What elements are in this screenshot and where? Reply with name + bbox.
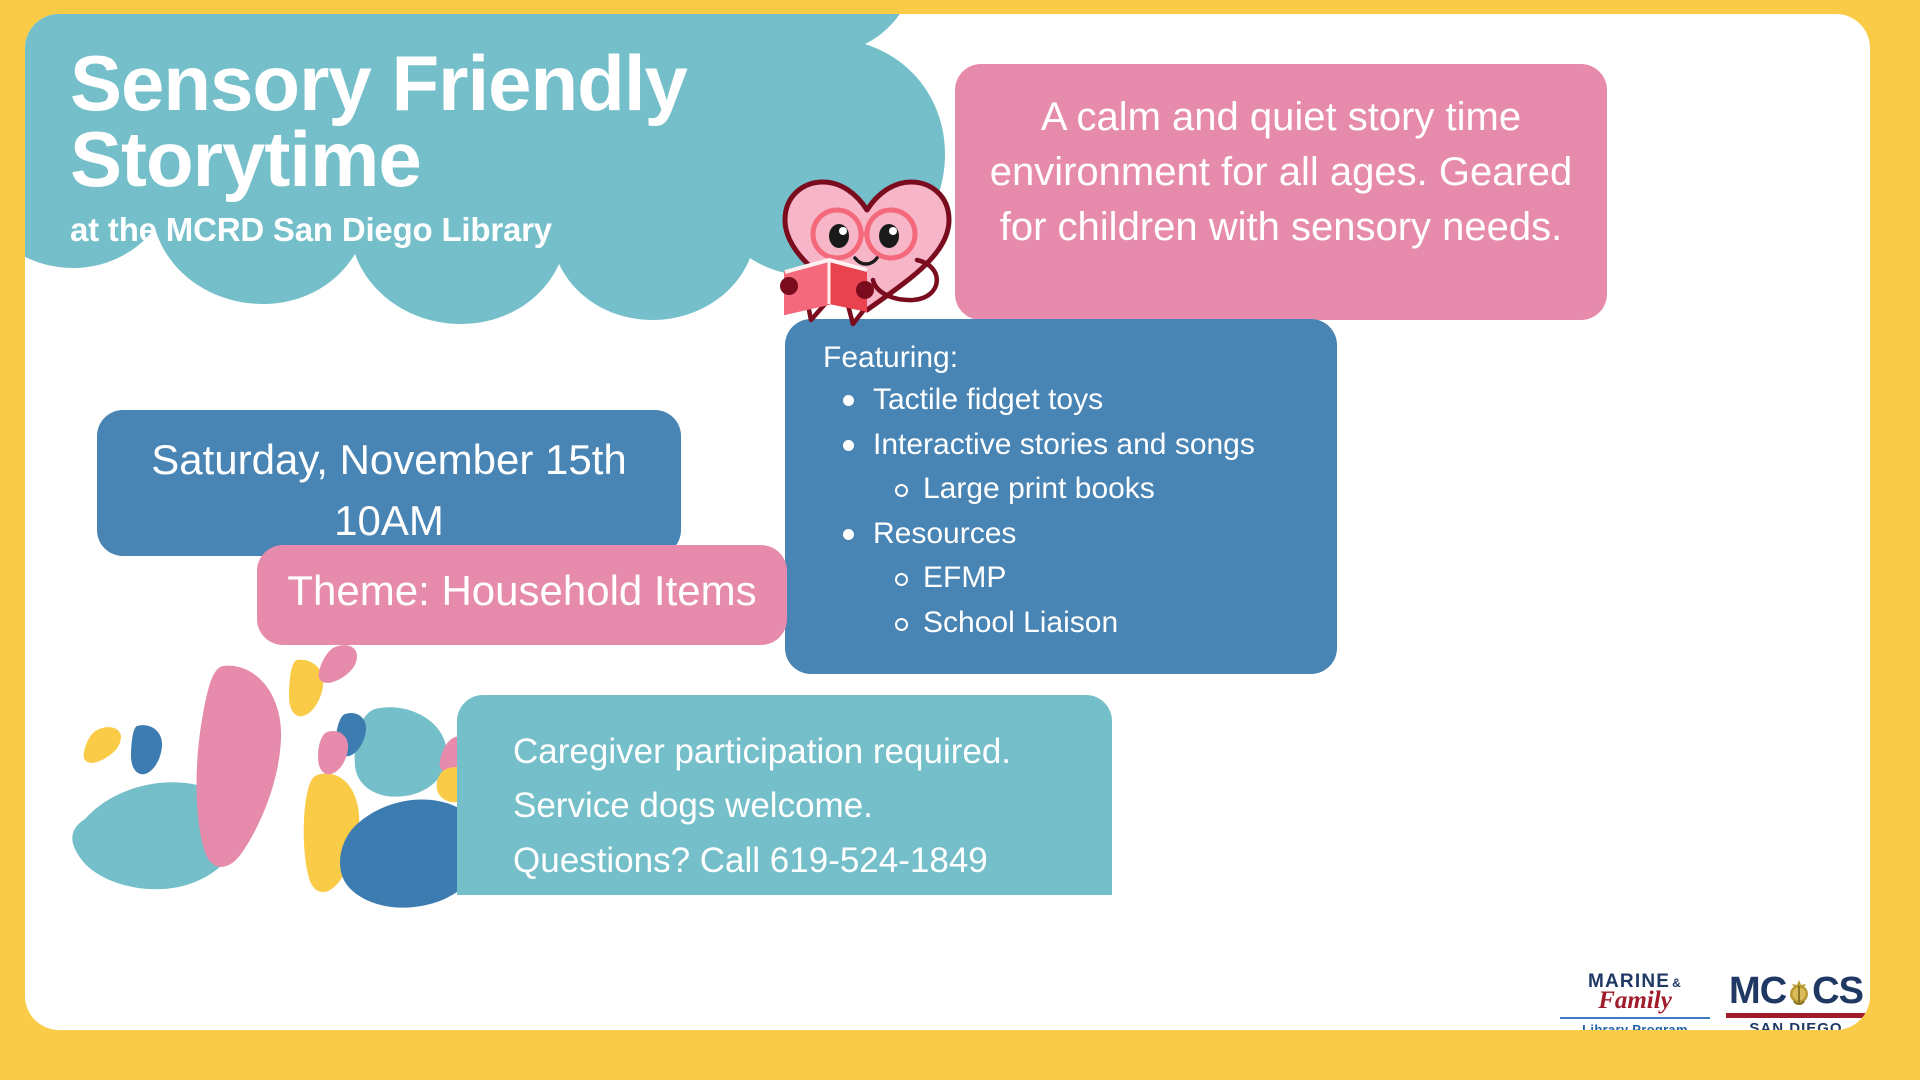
decorative-splash [45,644,495,914]
page-subtitle: at the MCRD San Diego Library [70,211,830,249]
theme-badge: Theme: Household Items [257,545,787,645]
info-line: Caregiver participation required. [513,725,1112,779]
event-time: 10AM [121,491,657,552]
title-block: Sensory Friendly Storytime at the MCRD S… [70,46,830,249]
theme-text: Theme: Household Items [287,567,756,614]
list-item: Resources [815,513,1311,556]
intro-text: A calm and quiet story time environment … [990,95,1573,249]
event-date: Saturday, November 15th [121,430,657,491]
featuring-heading: Featuring: [823,341,1311,375]
mccs-location: SAN DIEGO [1726,1020,1866,1030]
poster-root: A calm and quiet story time environment … [0,0,1920,1080]
eagle-globe-anchor-icon [1784,976,1814,1006]
list-item: Tactile fidget toys [815,379,1311,422]
logo-divider [1560,1017,1710,1019]
family-word: Family [1560,988,1710,1013]
mccs-logo: MC CS SAN DIEGO [1726,972,1866,1030]
mccs-divider [1726,1013,1866,1018]
info-callout: Caregiver participation required. Servic… [457,695,1112,895]
list-item: EFMP [815,557,1311,600]
list-item: Large print books [815,468,1311,511]
info-line: Service dogs welcome. [513,779,1112,833]
featuring-panel: Featuring: Tactile fidget toys Interacti… [785,319,1337,674]
mccs-right-letters: CS [1812,972,1863,1010]
featuring-list: Tactile fidget toys Interactive stories … [815,379,1311,645]
page-title: Sensory Friendly Storytime [70,46,830,197]
intro-callout: A calm and quiet story time environment … [955,64,1607,320]
library-program-tagline: Library Program [1560,1022,1710,1030]
marine-family-logo: MARINE & Family Library Program [1560,972,1710,1030]
list-item: Interactive stories and songs [815,424,1311,467]
heart-mascot-icon [767,162,967,342]
list-item: School Liaison [815,602,1311,645]
logo-group: MARINE & Family Library Program MC [1560,972,1870,1030]
date-time-badge: Saturday, November 15th 10AM [97,410,681,556]
mccs-left-letters: MC [1729,972,1786,1010]
info-line: Questions? Call 619-524-1849 [513,834,1112,888]
ampersand-glyph: & [1672,977,1682,989]
